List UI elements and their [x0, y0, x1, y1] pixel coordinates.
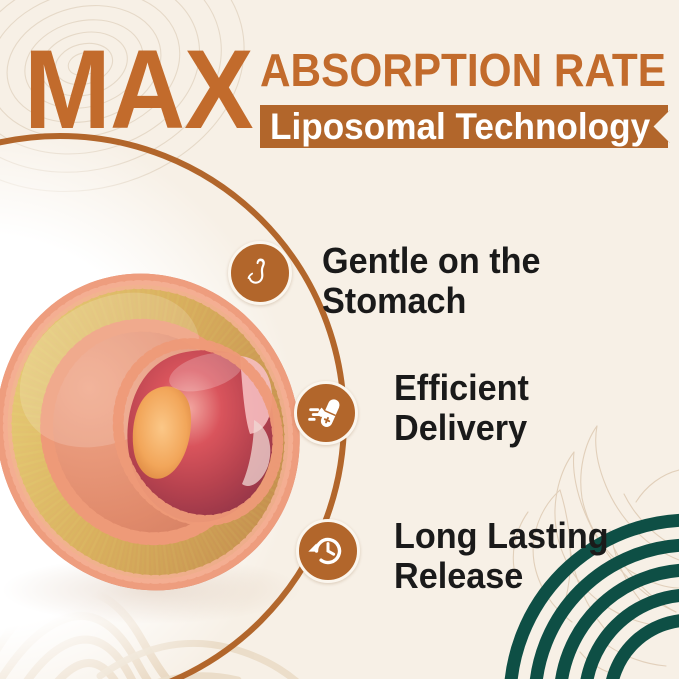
feature-label-delivery: Efficient Delivery [394, 368, 529, 448]
feature-badge-delivery [294, 381, 358, 445]
liposomal-technology-ribbon: Liposomal Technology [258, 103, 670, 150]
feature-label-stomach: Gentle on the Stomach [322, 241, 541, 321]
header: MAX ABSORPTION RATE Liposomal Technology [0, 0, 679, 175]
clock-history-icon [307, 530, 349, 572]
page-title-headline: ABSORPTION RATE [260, 46, 666, 94]
ribbon-label: Liposomal Technology [270, 108, 650, 146]
feature-badge-release [296, 519, 360, 583]
infographic-canvas: MAX ABSORPTION RATE Liposomal Technology… [0, 0, 679, 679]
feature-badge-stomach [228, 241, 292, 305]
feature-label-release: Long Lasting Release [394, 516, 609, 596]
page-title-max: MAX [24, 34, 253, 146]
capsule-droplet-icon [306, 393, 346, 433]
stomach-icon [240, 253, 280, 293]
